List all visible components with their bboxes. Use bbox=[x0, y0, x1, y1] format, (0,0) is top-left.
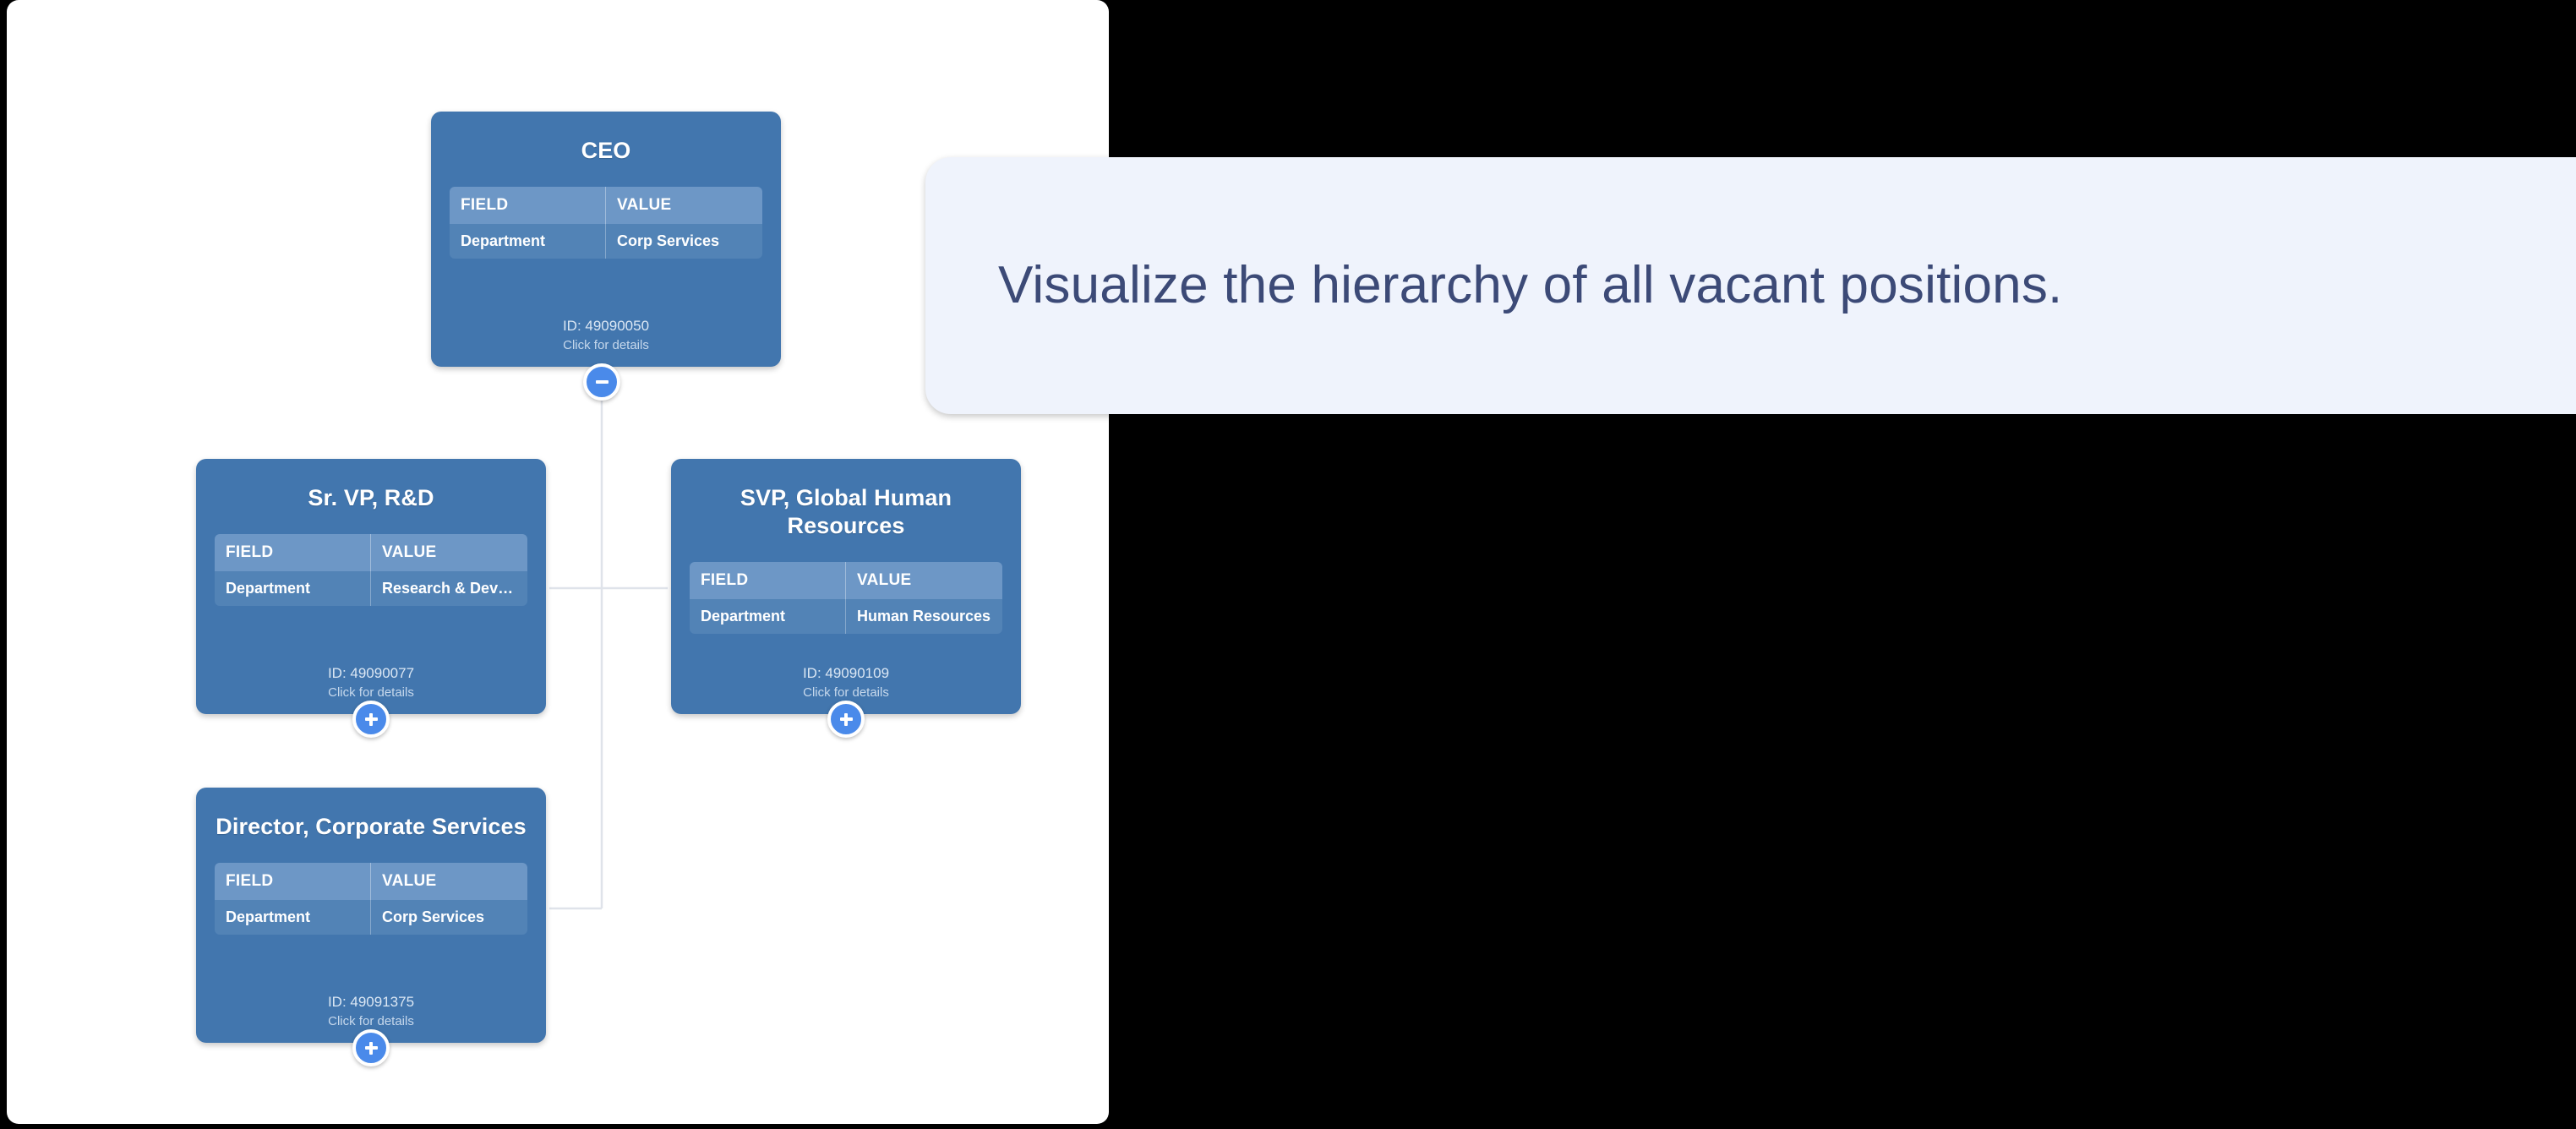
row-value: Research & Developm… bbox=[371, 571, 527, 606]
org-node-id: ID: 49090050 bbox=[431, 315, 781, 337]
org-node-sr-vp-rd[interactable]: Sr. VP, R&D FIELD VALUE Department Resea… bbox=[196, 459, 546, 714]
minus-icon bbox=[596, 380, 609, 384]
org-node-table: FIELD VALUE Department Human Resources bbox=[690, 562, 1002, 634]
plus-icon-vertical bbox=[369, 713, 373, 726]
table-row: Department Research & Developm… bbox=[215, 571, 527, 606]
row-field: Department bbox=[215, 900, 371, 935]
org-node-ceo[interactable]: CEO FIELD VALUE Department Corp Services… bbox=[431, 112, 781, 367]
org-node-svp-global-hr[interactable]: SVP, Global Human Resources FIELD VALUE … bbox=[671, 459, 1021, 714]
org-node-hint: Click for details bbox=[431, 336, 781, 355]
column-header-field: FIELD bbox=[215, 863, 371, 900]
instruction-callout: Visualize the hierarchy of all vacant po… bbox=[925, 157, 2576, 414]
table-row: Department Corp Services bbox=[450, 224, 762, 259]
org-node-title: Sr. VP, R&D bbox=[215, 484, 527, 512]
table-row: Department Corp Services bbox=[215, 900, 527, 935]
expand-button-sr-vp-rd[interactable] bbox=[352, 701, 390, 738]
org-node-title: CEO bbox=[450, 137, 762, 165]
org-node-hint: Click for details bbox=[196, 684, 546, 702]
plus-icon-vertical bbox=[844, 713, 848, 726]
column-header-value: VALUE bbox=[846, 562, 1002, 599]
column-header-value: VALUE bbox=[371, 534, 527, 571]
row-field: Department bbox=[215, 571, 371, 606]
org-node-footer: ID: 49090077 Click for details bbox=[196, 663, 546, 702]
org-node-footer: ID: 49090109 Click for details bbox=[671, 663, 1021, 702]
org-node-footer: ID: 49091375 Click for details bbox=[196, 991, 546, 1031]
table-row: Department Human Resources bbox=[690, 599, 1002, 634]
org-node-table: FIELD VALUE Department Corp Services bbox=[450, 187, 762, 259]
column-header-value: VALUE bbox=[371, 863, 527, 900]
column-header-value: VALUE bbox=[606, 187, 762, 224]
org-node-id: ID: 49090077 bbox=[196, 663, 546, 684]
expand-button-svp-global-hr[interactable] bbox=[827, 701, 865, 738]
expand-button-director-corporate-services[interactable] bbox=[352, 1029, 390, 1066]
table-header-row: FIELD VALUE bbox=[215, 534, 527, 571]
row-value: Human Resources bbox=[846, 599, 1002, 634]
org-node-id: ID: 49091375 bbox=[196, 991, 546, 1013]
table-header-row: FIELD VALUE bbox=[215, 863, 527, 900]
plus-icon-vertical bbox=[369, 1042, 373, 1055]
collapse-button-ceo[interactable] bbox=[583, 363, 620, 401]
org-node-title: SVP, Global Human Resources bbox=[690, 484, 1002, 540]
org-node-director-corporate-services[interactable]: Director, Corporate Services FIELD VALUE… bbox=[196, 788, 546, 1043]
row-field: Department bbox=[450, 224, 606, 259]
org-node-footer: ID: 49090050 Click for details bbox=[431, 315, 781, 355]
instruction-callout-text: Visualize the hierarchy of all vacant po… bbox=[998, 254, 2062, 317]
table-header-row: FIELD VALUE bbox=[450, 187, 762, 224]
column-header-field: FIELD bbox=[690, 562, 846, 599]
row-value: Corp Services bbox=[371, 900, 527, 935]
row-value: Corp Services bbox=[606, 224, 762, 259]
org-node-table: FIELD VALUE Department Research & Develo… bbox=[215, 534, 527, 606]
org-node-title: Director, Corporate Services bbox=[215, 813, 527, 841]
org-node-hint: Click for details bbox=[671, 684, 1021, 702]
org-node-hint: Click for details bbox=[196, 1012, 546, 1031]
column-header-field: FIELD bbox=[450, 187, 606, 224]
table-header-row: FIELD VALUE bbox=[690, 562, 1002, 599]
org-node-table: FIELD VALUE Department Corp Services bbox=[215, 863, 527, 935]
column-header-field: FIELD bbox=[215, 534, 371, 571]
org-node-id: ID: 49090109 bbox=[671, 663, 1021, 684]
row-field: Department bbox=[690, 599, 846, 634]
